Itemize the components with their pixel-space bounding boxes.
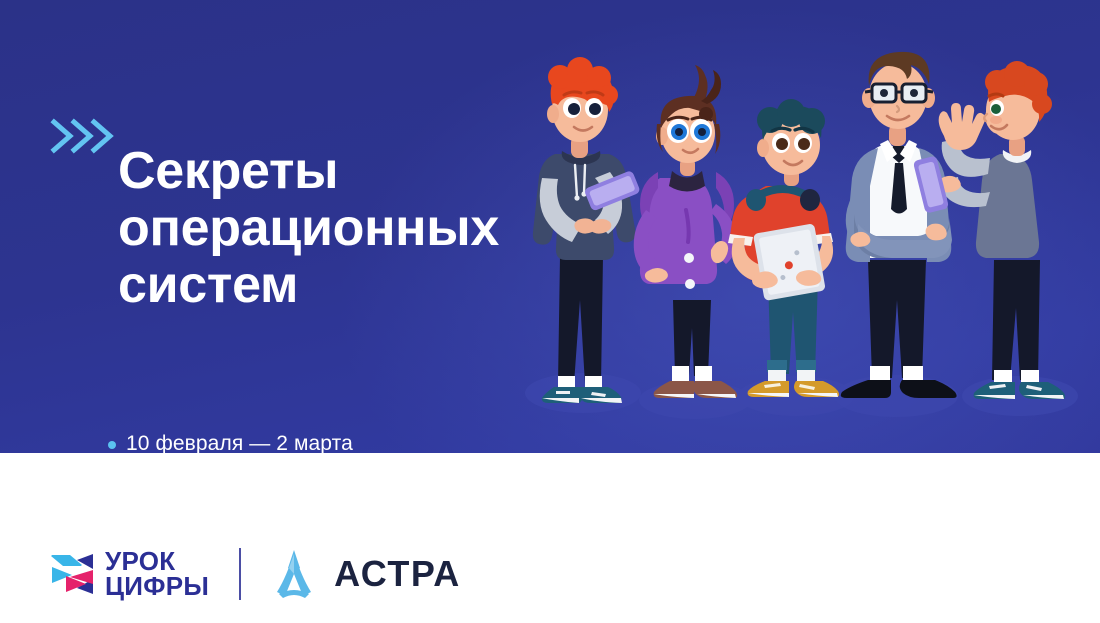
event-date-row: 10 февраля — 2 марта	[108, 432, 353, 456]
page-title-line-1: Секреты	[118, 143, 588, 200]
bullet-dot-icon	[108, 441, 116, 449]
page-title: Секреты операционных систем	[118, 143, 588, 314]
urok-cifry-logo[interactable]: УРОК ЦИФРЫ	[48, 549, 209, 599]
urok-cifry-line-2: ЦИФРЫ	[105, 574, 209, 599]
urok-cifry-chevron-mark-icon	[48, 550, 96, 598]
urok-cifry-wordmark: УРОК ЦИФРЫ	[105, 549, 209, 599]
astra-logo[interactable]: АСТРА	[267, 548, 461, 600]
page-title-line-2: операционных	[118, 200, 588, 257]
event-date-text: 10 февраля — 2 марта	[126, 432, 353, 456]
character-girl-purple-coat	[634, 65, 737, 398]
character-teacher	[841, 52, 957, 398]
slide-root: Секреты операционных систем 10 февраля —…	[0, 0, 1100, 623]
triple-chevron-right-icon	[50, 112, 120, 160]
footer-logos: УРОК ЦИФРЫ АСТРА	[48, 543, 461, 605]
page-title-line-3: систем	[118, 257, 588, 314]
character-boy-tablet	[728, 99, 839, 397]
five-students-and-teacher-illustration	[500, 28, 1100, 428]
vertical-divider-icon	[239, 548, 241, 600]
astra-trident-mark-icon	[267, 548, 321, 600]
astra-wordmark: АСТРА	[334, 553, 461, 595]
